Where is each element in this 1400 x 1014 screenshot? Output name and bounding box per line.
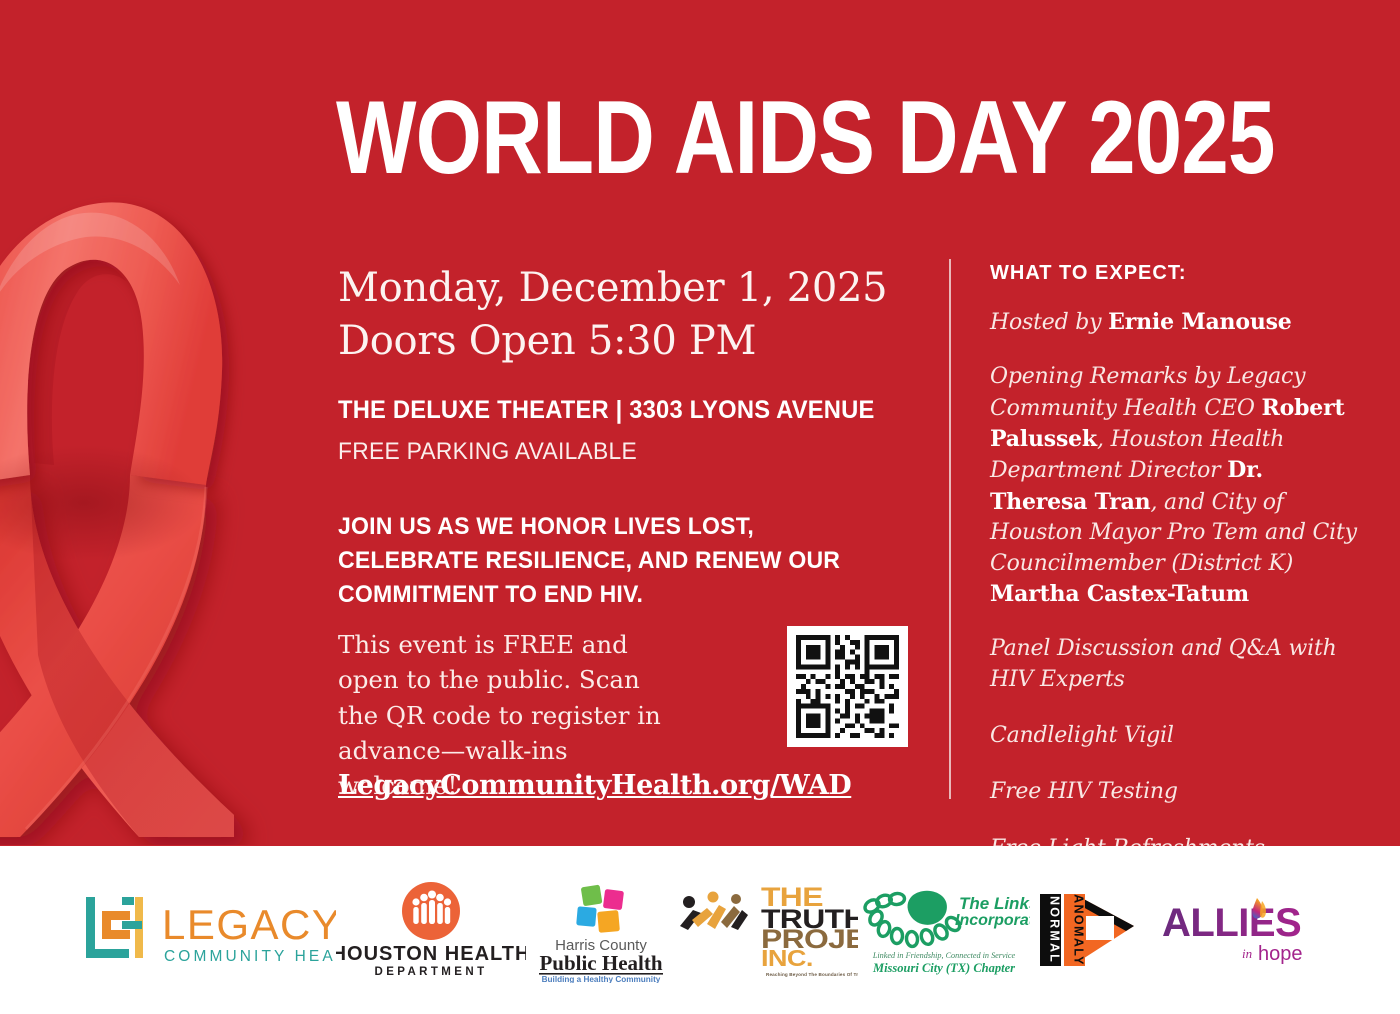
parking-note: FREE PARKING AVAILABLE bbox=[338, 438, 899, 466]
sponsor-logo-the-normal-anomaly: NORMAL ANOMALY bbox=[1030, 882, 1154, 978]
harris-squares-icon bbox=[576, 884, 624, 932]
page-title: WORLD AIDS DAY 2025 bbox=[336, 86, 1148, 190]
links-tagline: Linked in Friendship, Connected in Servi… bbox=[872, 951, 1016, 960]
allies-tagline-hope: hope bbox=[1258, 943, 1303, 965]
event-date-block: Monday, December 1, 2025 Doors Open 5:30… bbox=[338, 262, 928, 368]
legacy-wordmark: LEGACY bbox=[162, 901, 336, 948]
honor-statement: JOIN US AS WE HONOR LIVES LOST, CELEBRAT… bbox=[338, 510, 856, 612]
houston-tagline: DEPARTMENT bbox=[374, 966, 487, 978]
honor-line-1: JOIN US AS WE HONOR LIVES LOST, bbox=[338, 510, 856, 544]
wte-item-testing: Free HIV Testing bbox=[990, 777, 1360, 807]
wte-item-panel: Panel Discussion and Q&A with HIV Expert… bbox=[990, 634, 1360, 695]
wte-emphasis-name: Ernie Manouse bbox=[1108, 309, 1291, 335]
registration-url-link[interactable]: LegacyCommunityHealth.org/WAD bbox=[338, 770, 851, 801]
wte-text: Hosted by bbox=[990, 310, 1108, 335]
anomaly-word-anomaly: ANOMALY bbox=[1072, 894, 1086, 966]
what-to-expect-column: WHAT TO EXPECT: Hosted by Ernie Manouse … bbox=[990, 262, 1360, 846]
event-date: Monday, December 1, 2025 bbox=[338, 262, 928, 315]
poster-canvas: WORLD AIDS DAY 2025 Monday, December 1, … bbox=[0, 0, 1400, 1014]
wte-item-vigil: Candlelight Vigil bbox=[990, 721, 1360, 751]
harris-wordmark: Public Health bbox=[539, 951, 662, 975]
sponsor-logo-allies-in-hope: ALLIES in hope bbox=[1154, 890, 1322, 970]
houston-wordmark: HOUSTON HEALTH bbox=[336, 943, 526, 965]
sponsor-logo-legacy-community-health: LEGACY COMMUNITY HEALTH bbox=[78, 887, 336, 973]
doors-open-time: Doors Open 5:30 PM bbox=[338, 315, 928, 368]
sponsor-logo-the-links-incorporated: The Links, Incorporated Linked in Friend… bbox=[858, 880, 1030, 980]
houston-people-circle-icon bbox=[402, 882, 460, 940]
truth-tagline: Reaching Beyond The Boundaries Of Truth … bbox=[766, 972, 858, 977]
links-name-1: The Links, bbox=[959, 894, 1030, 913]
links-name-2: Incorporated bbox=[955, 912, 1030, 929]
wte-text: Opening Remarks by Legacy Community Heal… bbox=[990, 364, 1305, 420]
sponsor-logo-the-truth-project-inc: THE TRUTH PROJECT INC. Reaching Beyond T… bbox=[676, 880, 858, 980]
wte-item-host: Hosted by Ernie Manouse bbox=[990, 307, 1360, 338]
wte-text: Candlelight Vigil bbox=[990, 723, 1174, 748]
legacy-bracket-icon bbox=[86, 897, 143, 958]
wte-item-opening-remarks: Opening Remarks by Legacy Community Heal… bbox=[990, 362, 1360, 610]
aids-awareness-ribbon-icon bbox=[0, 55, 334, 845]
sponsor-logo-bar: LEGACY COMMUNITY HEALTH HOUSTON HEALTH bbox=[0, 846, 1400, 1014]
wte-emphasis-name: Martha Castex-Tatum bbox=[990, 581, 1249, 607]
truth-word-inc: INC. bbox=[761, 946, 813, 972]
column-divider bbox=[949, 259, 951, 799]
sponsor-logo-harris-county-public-health: Harris County Public Health Building a H… bbox=[526, 878, 676, 983]
allies-wordmark: ALLIES bbox=[1162, 901, 1301, 945]
qr-code-icon[interactable] bbox=[787, 626, 908, 747]
allies-tagline-in: in bbox=[1242, 946, 1252, 961]
harris-tagline: Building a Healthy Community bbox=[542, 975, 661, 983]
hero-band: WORLD AIDS DAY 2025 Monday, December 1, … bbox=[0, 0, 1400, 846]
honor-line-2: CELEBRATE RESILIENCE, AND RENEW OUR bbox=[338, 544, 856, 578]
event-details-column: Monday, December 1, 2025 Doors Open 5:30… bbox=[338, 262, 928, 612]
links-chapter: Missouri City (TX) Chapter bbox=[872, 961, 1015, 975]
wte-text: Free Light Refreshments bbox=[990, 836, 1265, 846]
sponsor-logo-houston-health-department: HOUSTON HEALTH DEPARTMENT bbox=[336, 880, 526, 980]
wte-item-refreshments: Free Light Refreshments bbox=[990, 834, 1360, 846]
what-to-expect-heading: WHAT TO EXPECT: bbox=[990, 262, 1360, 285]
links-map-icon bbox=[908, 891, 947, 925]
venue-address: THE DELUXE THEATER | 3303 LYONS AVENUE bbox=[338, 396, 899, 425]
honor-line-3: COMMITMENT TO END HIV. bbox=[338, 578, 856, 612]
wte-text: Panel Discussion and Q&A with HIV Expert… bbox=[990, 636, 1337, 691]
legacy-tagline: COMMUNITY HEALTH bbox=[164, 948, 336, 965]
truth-figures-icon bbox=[680, 892, 748, 931]
wte-text: Free HIV Testing bbox=[990, 779, 1178, 804]
anomaly-word-normal: NORMAL bbox=[1048, 896, 1062, 964]
